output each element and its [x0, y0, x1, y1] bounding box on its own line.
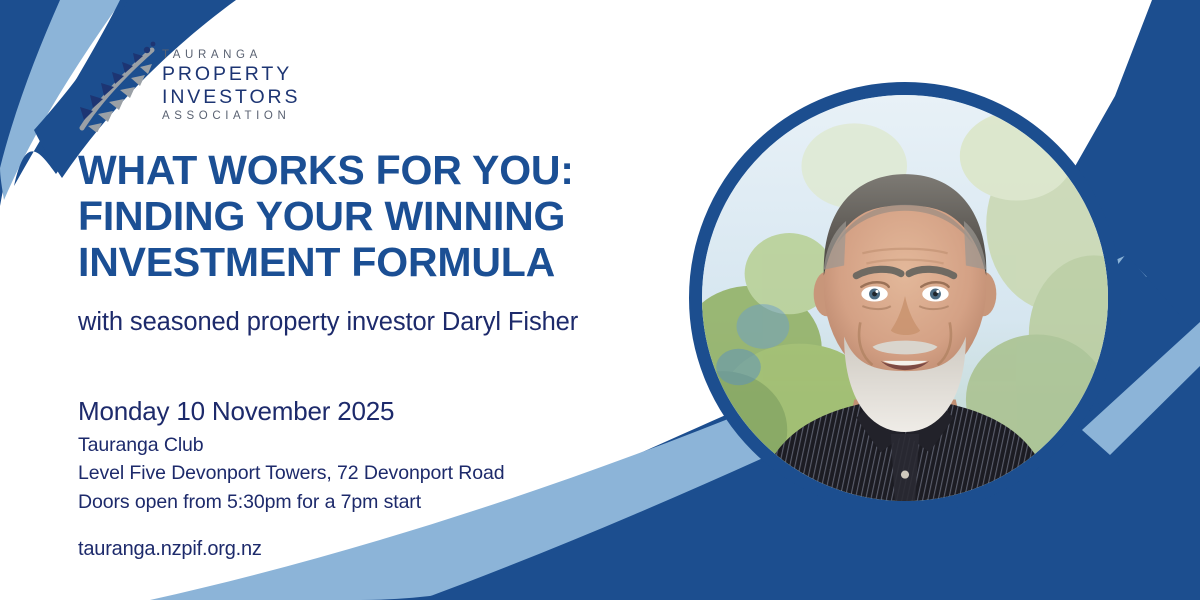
logo-wordmark: TAURANGA PROPERTY INVESTORS ASSOCIATION: [162, 50, 300, 123]
subtitle: with seasoned property investor Daryl Fi…: [78, 308, 578, 337]
logo-line-tauranga: TAURANGA: [162, 50, 300, 62]
event-banner: TAURANGA PROPERTY INVESTORS ASSOCIATION …: [0, 0, 1200, 600]
speaker-portrait: [689, 82, 1121, 514]
speaker-photo: [702, 95, 1108, 501]
event-address: Level Five Devonport Towers, 72 Devonpor…: [78, 459, 504, 487]
logo-line-association: ASSOCIATION: [162, 111, 300, 123]
title-line-1: WHAT WORKS FOR YOU:: [78, 148, 698, 194]
silver-fern-icon: [78, 40, 156, 132]
logo-line-investors: INVESTORS: [162, 88, 300, 108]
title-line-3: INVESTMENT FORMULA: [78, 240, 698, 286]
event-date: Monday 10 November 2025: [78, 396, 504, 427]
title-line-2: FINDING YOUR WINNING: [78, 194, 698, 240]
event-details: Monday 10 November 2025 Tauranga Club Le…: [78, 396, 504, 516]
event-doors-time: Doors open from 5:30pm for a 7pm start: [78, 488, 504, 516]
logo: TAURANGA PROPERTY INVESTORS ASSOCIATION: [78, 32, 278, 140]
logo-line-property: PROPERTY: [162, 65, 300, 85]
event-venue: Tauranga Club: [78, 431, 504, 459]
page-title: WHAT WORKS FOR YOU: FINDING YOUR WINNING…: [78, 148, 698, 286]
website-url[interactable]: tauranga.nzpif.org.nz: [78, 538, 262, 561]
